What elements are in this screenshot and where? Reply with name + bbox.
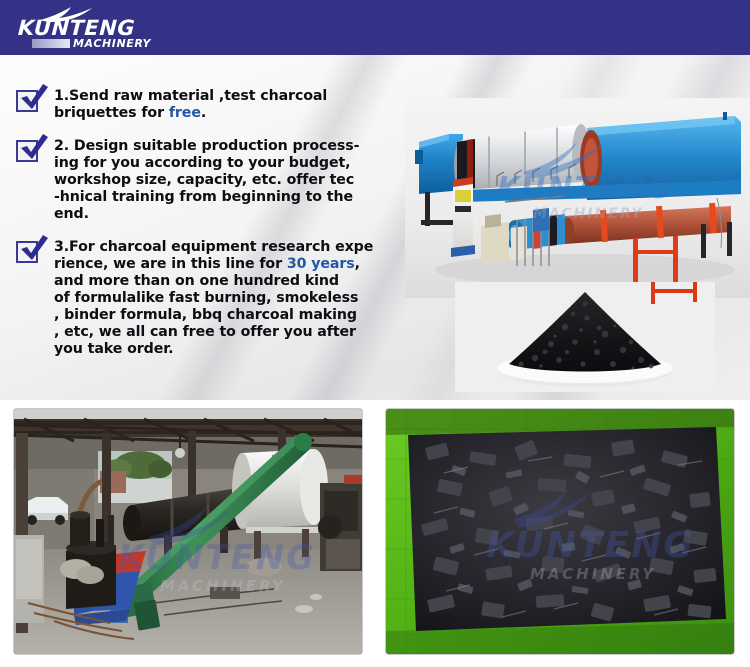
list-item-text: 2. Design suitable production process- i…	[54, 134, 359, 223]
feature-list: 1.Send raw material ,test charcoal briqu…	[0, 55, 430, 358]
list-item-text-after: .	[201, 105, 206, 121]
company-logo: KUNTENG MACHINERY	[18, 5, 138, 52]
logo-gradient-bar	[32, 39, 70, 48]
list-item: 1.Send raw material ,test charcoal briqu…	[14, 84, 430, 122]
list-item: 3.For charcoal equipment research expe r…	[14, 235, 430, 358]
svg-text:MACHINERY: MACHINERY	[533, 206, 643, 222]
logo-subtitle: MACHINERY	[73, 38, 151, 49]
checkbox-checked-icon	[14, 134, 48, 164]
list-item-text-before: 2. Design suitable production process- i…	[54, 138, 359, 222]
list-item: 2. Design suitable production process- i…	[14, 134, 430, 223]
checkbox-checked-icon	[14, 84, 48, 114]
svg-text:MACHINERY: MACHINERY	[160, 577, 286, 595]
charcoal-granule-pile-photo	[455, 282, 715, 392]
list-item-highlight: free	[169, 105, 201, 121]
svg-text:KUNTENG: KUNTENG	[118, 538, 316, 578]
list-item-text: 3.For charcoal equipment research expe r…	[54, 235, 373, 358]
svg-text:MACHINERY: MACHINERY	[530, 565, 656, 583]
promo-banner: KUNTENG MACHINERY 1.Send raw mate	[0, 0, 750, 667]
rotary-carbonization-machine-photo: KUNTENG MACHINERY	[405, 98, 750, 298]
svg-text:KUNTENG: KUNTENG	[486, 525, 695, 566]
factory-workshop-photo: KUNTENG MACHINERY	[13, 408, 363, 655]
checkbox-checked-icon	[14, 235, 48, 265]
list-item-highlight: 30 years	[287, 256, 355, 272]
header-bar: KUNTENG MACHINERY	[0, 0, 750, 55]
svg-text:KUNTENG: KUNTENG	[497, 171, 673, 206]
logo-wordmark: KUNTENG	[17, 18, 135, 39]
charcoal-in-green-bag-photo: KUNTENG MACHINERY	[385, 408, 735, 655]
logo-subtitle-group: MACHINERY	[32, 38, 151, 49]
list-item-text: 1.Send raw material ,test charcoal briqu…	[54, 84, 327, 122]
